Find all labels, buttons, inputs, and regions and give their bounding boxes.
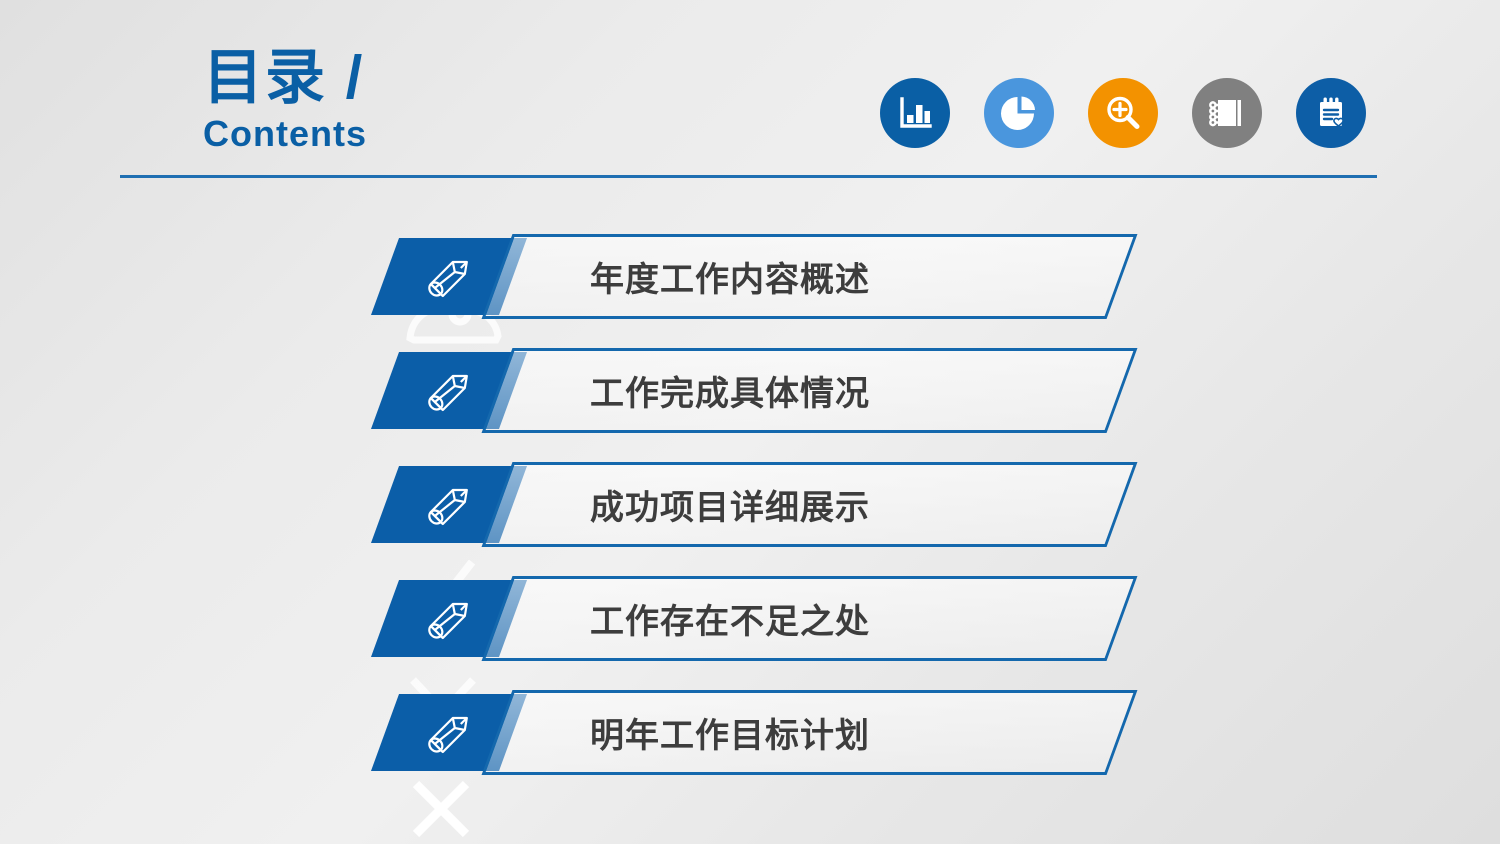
list-item-label: 工作存在不足之处 [590, 576, 1120, 661]
list-item[interactable]: 工作存在不足之处 [0, 572, 1500, 686]
list-item-label: 年度工作内容概述 [590, 234, 1120, 319]
list-item-label: 成功项目详细展示 [590, 462, 1120, 547]
header-icon-row [880, 78, 1366, 148]
notebook-icon[interactable] [1192, 78, 1262, 148]
pencil-icon [421, 366, 477, 416]
magnifier-plus-icon[interactable] [1088, 78, 1158, 148]
contents-list: 年度工作内容概述 工作完成具体情况 [0, 230, 1500, 800]
page-title-cn: 目录 / [203, 48, 367, 108]
pencil-icon [421, 594, 477, 644]
list-item-label: 明年工作目标计划 [590, 690, 1120, 775]
list-item[interactable]: 明年工作目标计划 [0, 686, 1500, 800]
notepad-heart-icon[interactable] [1296, 78, 1366, 148]
header-divider [120, 175, 1377, 178]
list-item[interactable]: 成功项目详细展示 [0, 458, 1500, 572]
page-title: 目录 / Contents [203, 48, 367, 152]
list-item[interactable]: 工作完成具体情况 [0, 344, 1500, 458]
page-title-en: Contents [203, 116, 367, 152]
pencil-icon [421, 480, 477, 530]
pencil-icon [421, 252, 477, 302]
pie-chart-icon[interactable] [984, 78, 1054, 148]
list-item-label: 工作完成具体情况 [590, 348, 1120, 433]
list-item[interactable]: 年度工作内容概述 [0, 230, 1500, 344]
bar-chart-icon[interactable] [880, 78, 950, 148]
pencil-icon [421, 708, 477, 758]
